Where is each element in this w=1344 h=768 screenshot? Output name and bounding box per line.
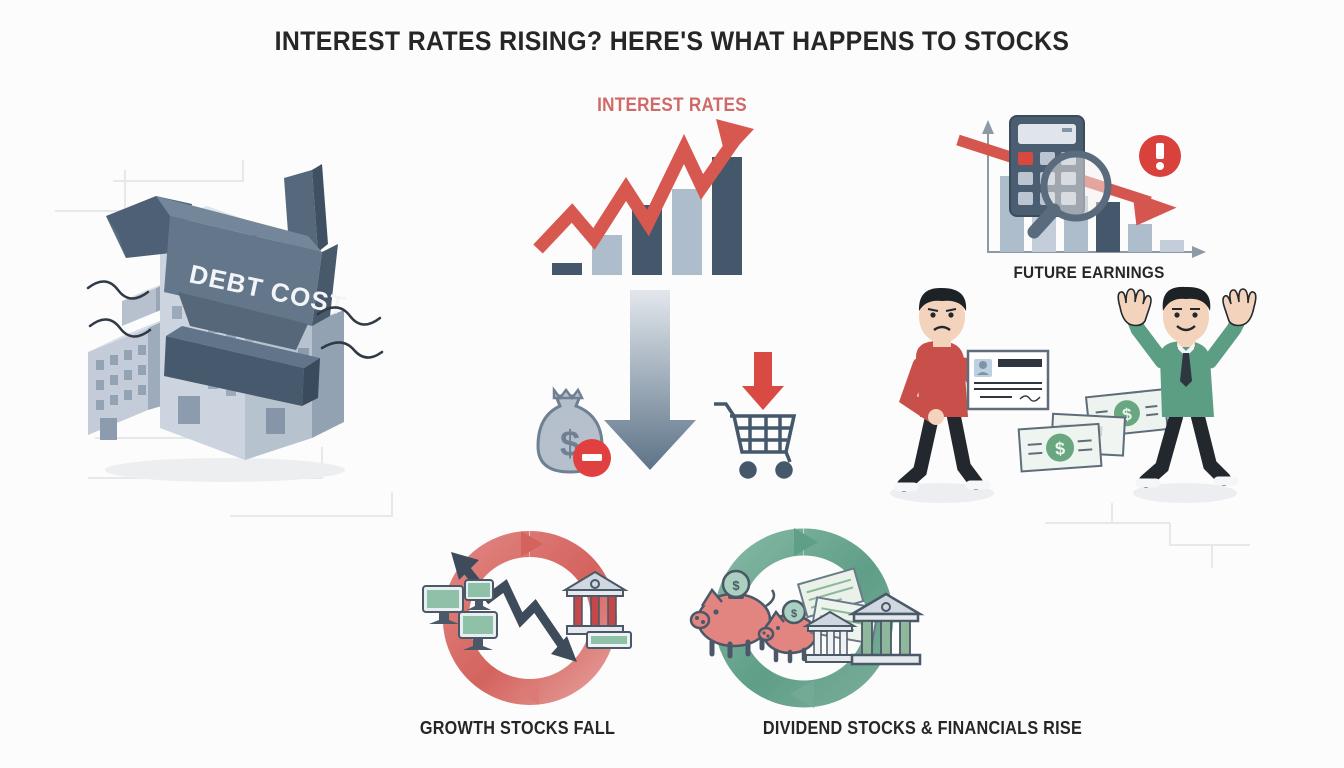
label-growth-stocks-fall: GROWTH STOCKS FALL [412,718,624,739]
section-growth-stocks [425,528,635,708]
certificate-icon [968,351,1048,409]
page-title: INTEREST RATES RISING? HERE'S WHAT HAPPE… [54,26,1290,57]
bank-building-icon [565,572,631,648]
svg-text:$: $ [732,578,740,593]
infographic-canvas: INTEREST RATES RISING? HERE'S WHAT HAPPE… [0,0,1344,768]
red-alert-exclamation-icon [1139,135,1181,177]
section-interest-rates [520,115,780,295]
section-future-earnings [960,118,1210,268]
section-spending-down: $ [520,360,820,490]
svg-text:$: $ [791,608,797,620]
section-dividend-financials: $ $ [690,528,920,708]
section-winners-losers: $ $ [880,285,1270,510]
label-future-earnings: FUTURE EARNINGS [959,263,1220,283]
money-bag-icon: $ [538,390,611,477]
label-interest-rates: INTEREST RATES [67,95,1277,117]
shopping-cart-icon [714,404,794,477]
svg-text:$: $ [1054,438,1065,459]
section-debt-cost: DEBT COST [60,160,400,520]
label-dividend-financials-rise: DIVIDEND STOCKS & FINANCIALS RISE [686,718,1159,739]
happy-person-cheering-icon [1118,287,1256,483]
red-down-arrow-icon [742,352,784,410]
piggy-bank-icon: $ [691,571,774,656]
